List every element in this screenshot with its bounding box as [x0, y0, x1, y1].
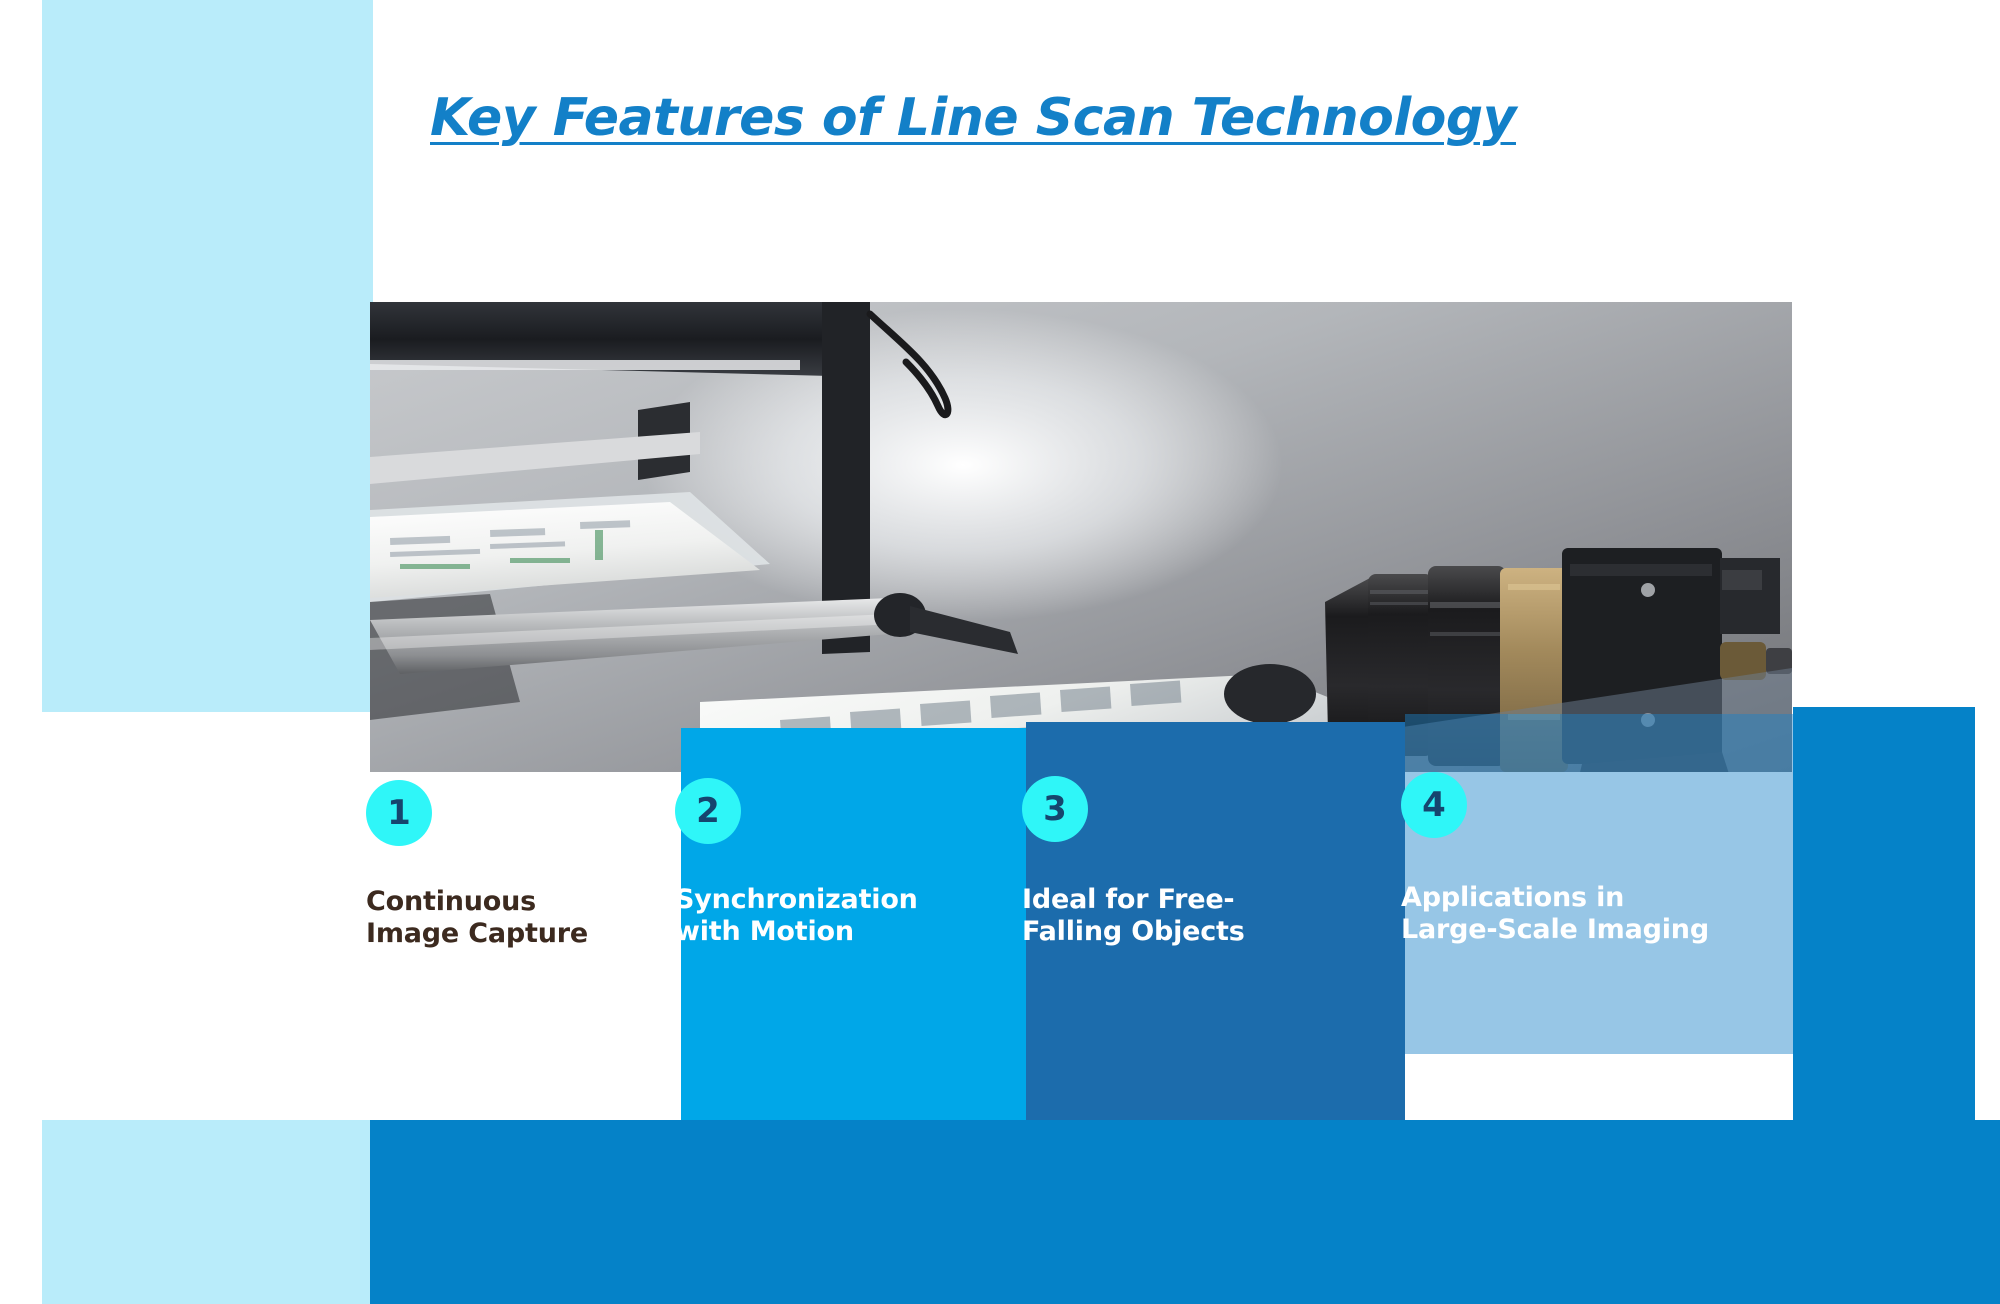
feature-badge-2: 2	[675, 778, 741, 844]
feature-card-1[interactable]: 1 Continuous Image Capture	[370, 728, 681, 1120]
line-scan-camera-inspection-photo	[370, 302, 1792, 772]
decorative-light-band-top	[42, 0, 373, 712]
feature-badge-1: 1	[366, 780, 432, 846]
feature-badge-3: 3	[1022, 776, 1088, 842]
slide-canvas: Key Features of Line Scan Technology 1 C…	[0, 0, 2000, 1304]
decorative-light-band-bottom	[42, 1120, 373, 1304]
decorative-blue-band-right	[1793, 707, 1975, 1120]
page-title: Key Features of Line Scan Technology	[430, 88, 1730, 158]
feature-badge-4: 4	[1401, 772, 1467, 838]
feature-card-4[interactable]: 4 Applications in Large-Scale Imaging	[1405, 714, 1793, 1054]
feature-label-1: Continuous Image Capture	[366, 886, 588, 949]
feature-label-2: Synchronization with Motion	[675, 884, 918, 947]
page-title-text: Key Features of Line Scan Technology	[430, 88, 1730, 148]
feature-card-2[interactable]: 2 Synchronization with Motion	[681, 728, 1026, 1120]
feature-card-3[interactable]: 3 Ideal for Free- Falling Objects	[1026, 722, 1405, 1120]
feature-label-3: Ideal for Free- Falling Objects	[1022, 884, 1245, 947]
decorative-blue-band-bottom	[370, 1120, 2000, 1304]
feature-label-4: Applications in Large-Scale Imaging	[1401, 882, 1709, 945]
